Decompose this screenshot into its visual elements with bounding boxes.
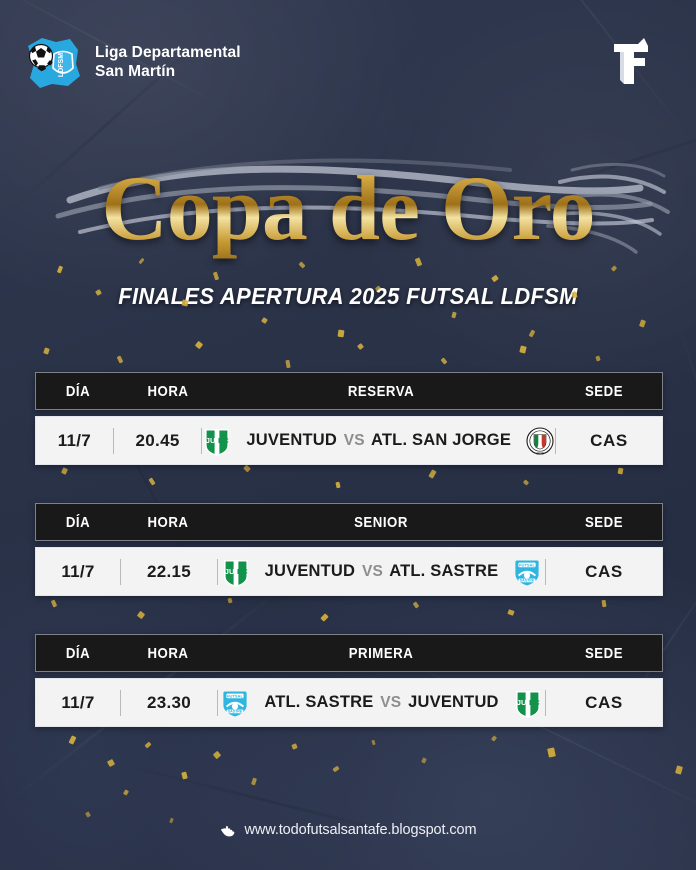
table-row[interactable]: 11/7 22.15 JU RC JUV (35, 547, 663, 596)
svg-text:SASTRE: SASTRE (520, 578, 535, 582)
svg-text:RC: RC (529, 698, 540, 707)
jurc-juventud-crest-icon: JU RC (513, 687, 543, 719)
svg-text:RC: RC (218, 436, 229, 445)
column-header-category: SENIOR (236, 514, 526, 531)
table-row[interactable]: 11/7 20.45 JU RC JUV (35, 416, 663, 465)
column-header-dia: DÍA (41, 645, 115, 662)
table-header-row: DÍA HORA RESERVA SEDE (35, 372, 663, 410)
pointing-hand-icon (220, 823, 236, 838)
match-teams: JUVENTUD VS ATL. SAN JORGE (246, 431, 511, 450)
poster-canvas: LDFSM Liga Departamental San Martín (0, 0, 696, 870)
cell-hora: 20.45 (114, 431, 202, 451)
league-name-line1: Liga Departamental (95, 44, 241, 63)
cell-sede: CAS (556, 431, 662, 451)
vs-label: VS (342, 432, 367, 449)
footer-url[interactable]: www.todofutsalsantafe.blogspot.com (245, 822, 477, 838)
home-team-name: JUVENTUD (265, 562, 356, 580)
cell-dia: 11/7 (36, 562, 120, 582)
svg-text:JU: JU (224, 567, 234, 576)
main-title-block: Copa de Oro (0, 148, 696, 268)
column-header-dia: DÍA (41, 514, 115, 531)
cell-dia: 11/7 (36, 431, 113, 451)
svg-text:SASTRE: SASTRE (228, 709, 243, 713)
fixture-block-primera: DÍA HORA PRIMERA SEDE 11/7 23.30 FUTSAL (35, 634, 663, 727)
footer: www.todofutsalsantafe.blogspot.com (0, 822, 696, 838)
fixture-block-senior: DÍA HORA SENIOR SEDE 11/7 22.15 JU (35, 503, 663, 596)
atl-sastre-crest-icon: FUTSAL SASTRE (512, 556, 542, 588)
todo-futsal-tf-logo-icon (604, 36, 660, 88)
column-header-dia: DÍA (41, 383, 115, 400)
svg-text:FUTSAL: FUTSAL (227, 693, 243, 698)
vs-label: VS (378, 694, 403, 711)
cell-hora: 22.15 (121, 562, 217, 582)
league-name: Liga Departamental San Martín (95, 44, 241, 82)
away-team-name: ATL. SASTRE (389, 562, 498, 580)
table-header-row: DÍA HORA SENIOR SEDE (35, 503, 663, 541)
cell-hora: 23.30 (121, 693, 217, 713)
cell-sede: CAS (546, 693, 662, 713)
atl-san-jorge-crest-icon: 1929 (525, 425, 555, 457)
table-row[interactable]: 11/7 23.30 FUTSAL SASTRE (35, 678, 663, 727)
column-header-category: PRIMERA (236, 645, 526, 662)
svg-text:LDFSM: LDFSM (58, 53, 65, 77)
subtitle: FINALES APERTURA 2025 FUTSAL LDFSM (24, 283, 671, 310)
match-teams: JUVENTUD VS ATL. SASTRE (265, 562, 499, 581)
svg-text:RC: RC (237, 567, 248, 576)
column-header-hora: HORA (126, 514, 210, 531)
match-pairing: FUTSAL SASTRE ATL. SASTRE VS JUVENTUD (218, 687, 545, 719)
home-team-name: JUVENTUD (246, 431, 337, 449)
league-identity: LDFSM Liga Departamental San Martín (22, 34, 241, 92)
jurc-juventud-crest-icon: JU RC (221, 556, 251, 588)
column-header-hora: HORA (126, 383, 210, 400)
atl-sastre-crest-icon: FUTSAL SASTRE (220, 687, 250, 719)
away-team-name: ATL. SAN JORGE (371, 431, 511, 449)
ldfsm-league-badge-icon: LDFSM (22, 34, 84, 92)
fixture-block-reserva: DÍA HORA RESERVA SEDE 11/7 20.45 JU (35, 372, 663, 465)
match-teams: ATL. SASTRE VS JUVENTUD (264, 693, 498, 712)
poster-header: LDFSM Liga Departamental San Martín (22, 34, 674, 96)
table-header-row: DÍA HORA PRIMERA SEDE (35, 634, 663, 672)
column-header-hora: HORA (126, 645, 210, 662)
column-header-sede: SEDE (553, 383, 655, 400)
column-header-sede: SEDE (553, 645, 655, 662)
match-pairing: JU RC JUVENTUD VS ATL. SAN JORGE (202, 425, 555, 457)
svg-text:FUTSAL: FUTSAL (519, 562, 535, 567)
match-pairing: JU RC JUVENTUD VS ATL. SASTRE FUTSAL (218, 556, 545, 588)
page-title: Copa de Oro (0, 148, 696, 268)
column-header-category: RESERVA (236, 383, 526, 400)
vs-label: VS (360, 563, 385, 580)
svg-text:JU: JU (206, 436, 216, 445)
away-team-name: JUVENTUD (408, 693, 499, 711)
svg-text:JU: JU (516, 698, 526, 707)
league-name-line2: San Martín (95, 63, 241, 82)
column-header-sede: SEDE (553, 514, 655, 531)
jurc-juventud-crest-icon: JU RC (202, 425, 232, 457)
cell-dia: 11/7 (36, 693, 120, 713)
svg-text:1929: 1929 (536, 451, 544, 455)
cell-sede: CAS (546, 562, 662, 582)
home-team-name: ATL. SASTRE (264, 693, 373, 711)
